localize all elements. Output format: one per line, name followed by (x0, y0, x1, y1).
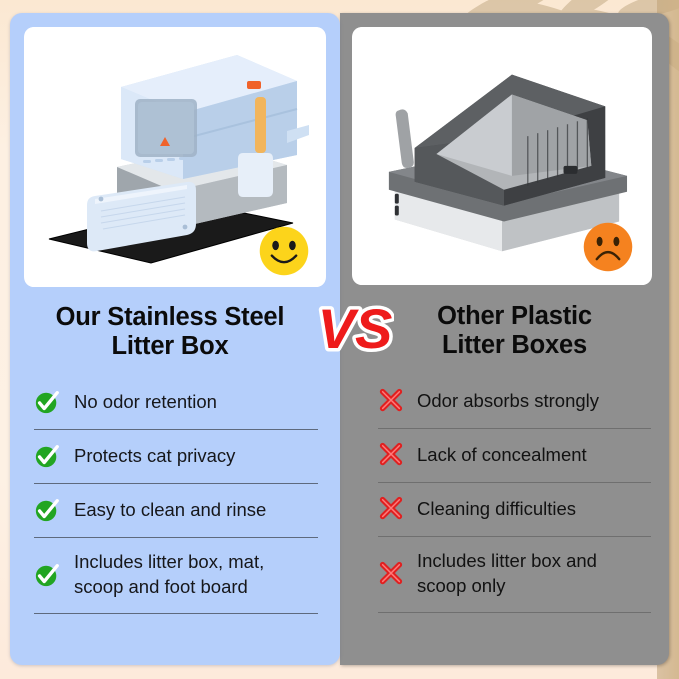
right-product-photo-card (352, 27, 652, 285)
right-comparison-panel: Other Plastic Litter Boxes Odor absorbs … (340, 13, 669, 665)
list-item-label: Includes litter box, mat, scoop and foot… (74, 550, 318, 600)
right-heading-line-2: Litter Boxes (374, 331, 655, 360)
list-item: Lack of concealment (378, 429, 651, 483)
left-product-photo-card (24, 27, 326, 287)
list-item-label: Protects cat privacy (74, 444, 235, 469)
list-item: No odor retention (34, 376, 318, 430)
red-x-icon (378, 388, 404, 414)
left-heading-line-1: Our Stainless Steel (56, 303, 285, 331)
smiley-happy-face-icon (256, 223, 312, 279)
green-check-icon (34, 443, 60, 469)
red-x-icon (378, 442, 404, 468)
list-item: Protects cat privacy (34, 430, 318, 484)
list-item: Includes litter box and scoop only (378, 537, 651, 613)
right-feature-list: Odor absorbs strongly Lack of concealmen… (340, 375, 669, 665)
list-item-label: No odor retention (74, 390, 217, 415)
right-heading-line-1: Other Plastic (437, 302, 592, 330)
list-item: Odor absorbs strongly (378, 375, 651, 429)
list-item-label: Includes litter box and scoop only (417, 549, 651, 599)
frowning-sad-face-icon (580, 219, 636, 275)
list-item: Includes litter box, mat, scoop and foot… (34, 538, 318, 614)
right-panel-heading: Other Plastic Litter Boxes (340, 302, 669, 361)
left-comparison-panel: Our Stainless Steel Litter Box No odor r… (10, 13, 340, 665)
list-item-label: Lack of concealment (417, 443, 587, 468)
red-x-icon (378, 561, 404, 587)
green-check-icon (34, 389, 60, 415)
list-item-label: Cleaning difficulties (417, 497, 576, 522)
list-item-label: Odor absorbs strongly (417, 389, 599, 414)
green-check-icon (34, 497, 60, 523)
left-feature-list: No odor retention Protects cat privacy E… (10, 376, 340, 665)
green-check-icon (34, 562, 60, 588)
list-item: Easy to clean and rinse (34, 484, 318, 538)
comparison-stage: Our Stainless Steel Litter Box No odor r… (10, 13, 669, 665)
red-x-icon (378, 496, 404, 522)
list-item-label: Easy to clean and rinse (74, 498, 266, 523)
list-item: Cleaning difficulties (378, 483, 651, 537)
left-panel-heading: Our Stainless Steel Litter Box (10, 303, 340, 362)
left-heading-line-2: Litter Box (26, 332, 314, 361)
